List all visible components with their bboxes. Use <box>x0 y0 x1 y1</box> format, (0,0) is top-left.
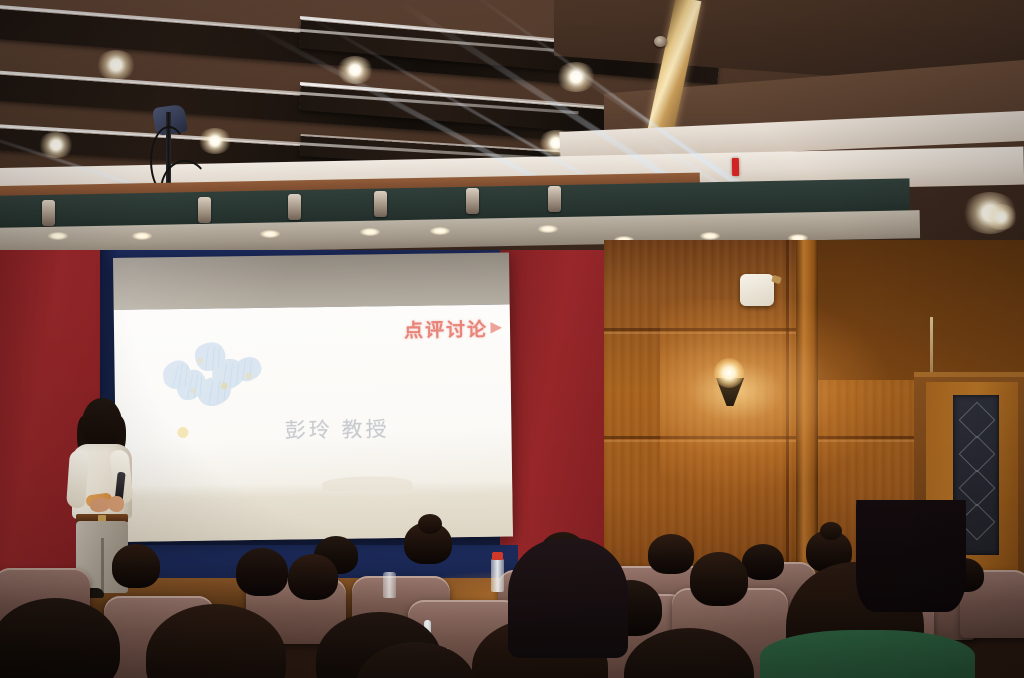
foreground-attendee-head <box>0 598 120 678</box>
green-shirt-attendee <box>760 630 975 678</box>
stage-spotlight <box>42 200 55 226</box>
hair-bun <box>418 514 442 534</box>
recessed-downlight <box>360 228 380 236</box>
bottle-cap <box>492 552 503 560</box>
attendee-head <box>742 544 784 580</box>
attendee-head <box>648 534 694 574</box>
attendee-silhouette <box>856 500 966 612</box>
recessed-downlight <box>700 232 720 240</box>
slide-accent-dot <box>177 427 188 438</box>
recessed-downlight <box>538 225 558 233</box>
attendee-silhouette <box>508 538 628 658</box>
slide-arrow-icon: ▶ <box>490 318 502 336</box>
slide-speaker-name: 彭玲 教授 <box>285 413 390 444</box>
recessed-downlight <box>430 227 450 235</box>
stage-spotlight <box>198 197 211 223</box>
water-bottle <box>383 572 396 598</box>
attendee-head <box>690 552 748 606</box>
wall-speaker-panel <box>740 274 774 306</box>
attendee-head <box>112 544 160 588</box>
red-marker-tag <box>732 158 739 176</box>
stage-spotlight <box>466 188 479 214</box>
lecture-hall-photo: 点评讨论 ▶ 彭玲 教授 <box>0 0 1024 678</box>
recessed-downlight <box>48 232 68 240</box>
hair-bun <box>820 522 842 540</box>
wall-sconce-bulb <box>714 358 744 388</box>
recessed-downlight <box>132 232 152 240</box>
stage-spotlight <box>288 194 301 220</box>
wood-wall-upper-dark <box>818 240 1024 380</box>
presenter-hair <box>82 398 122 448</box>
stage-spotlight <box>374 191 387 217</box>
stage-spotlight <box>548 186 561 212</box>
slide-heading: 点评讨论 <box>404 315 488 343</box>
projection-screen: 点评讨论 ▶ 彭玲 教授 <box>113 252 513 542</box>
ceiling-sensor-icon <box>654 36 667 47</box>
attendee-head <box>288 554 338 600</box>
recessed-downlight <box>260 230 280 238</box>
attendee-head <box>236 548 288 596</box>
screen-top-band <box>113 252 510 310</box>
ginkgo-leaf-icon <box>148 332 269 418</box>
water-bottle <box>491 558 504 592</box>
slide-accent-dot <box>221 382 228 389</box>
